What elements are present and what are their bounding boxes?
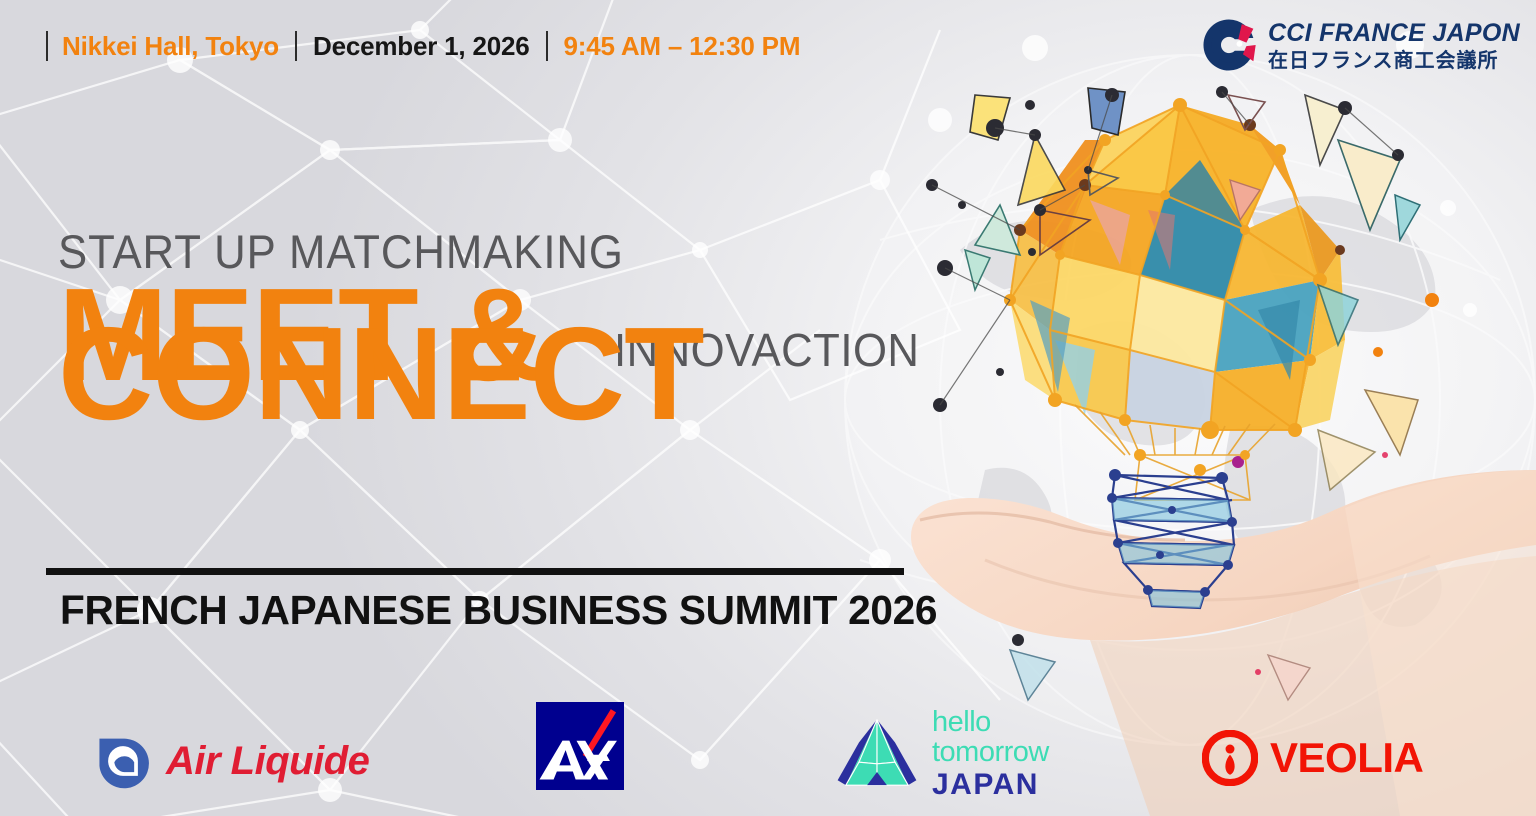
sponsor-hello-tomorrow-japan: hello tomorrow JAPAN	[836, 708, 1049, 801]
polygon-shards	[926, 86, 1439, 700]
sponsor-logo-row: Air Liquide AXA	[0, 702, 1420, 798]
cci-france-japon-logo: CCI FRANCE JAPON 在日フランス商工会議所	[1200, 16, 1520, 74]
hello-tomorrow-line2: tomorrow	[932, 738, 1049, 768]
event-banner: Nikkei Hall, Tokyo December 1, 2026 9:45…	[0, 0, 1536, 816]
air-liquide-icon	[92, 730, 154, 792]
lightbulb-low-poly	[1004, 98, 1345, 608]
hello-tomorrow-line3: JAPAN	[932, 770, 1049, 801]
headline-connect: CONNECT	[58, 324, 704, 424]
axa-icon	[536, 702, 624, 790]
time-label: 9:45 AM – 12:30 PM	[564, 33, 801, 59]
summit-subtitle: FRENCH JAPANESE BUSINESS SUMMIT 2026	[60, 590, 937, 631]
veolia-wordmark: VEOLIA	[1270, 734, 1423, 782]
hello-tomorrow-line1: hello	[932, 708, 1049, 738]
event-meta-header: Nikkei Hall, Tokyo December 1, 2026 9:45…	[46, 22, 800, 70]
date-label: December 1, 2026	[313, 33, 530, 59]
separator-pipe	[546, 31, 548, 61]
cci-logo-subtitle-jp: 在日フランス商工会議所	[1268, 50, 1520, 70]
sponsor-veolia: VEOLIA	[1202, 730, 1423, 786]
cci-logo-title: CCI FRANCE JAPON	[1268, 21, 1520, 46]
cci-circle-icon	[1200, 16, 1258, 74]
hello-tomorrow-icon	[836, 713, 918, 795]
sponsor-air-liquide: Air Liquide	[92, 730, 369, 792]
venue-label: Nikkei Hall, Tokyo	[62, 33, 279, 59]
headline-block: START UP MATCHMAKING MEET & INNOVACTION …	[58, 228, 958, 393]
separator-pipe	[295, 31, 297, 61]
veolia-icon	[1202, 730, 1258, 786]
air-liquide-wordmark: Air Liquide	[166, 739, 369, 784]
headline-divider-rule	[46, 568, 904, 575]
sponsor-axa: AXA	[536, 702, 624, 790]
separator-pipe	[46, 31, 48, 61]
